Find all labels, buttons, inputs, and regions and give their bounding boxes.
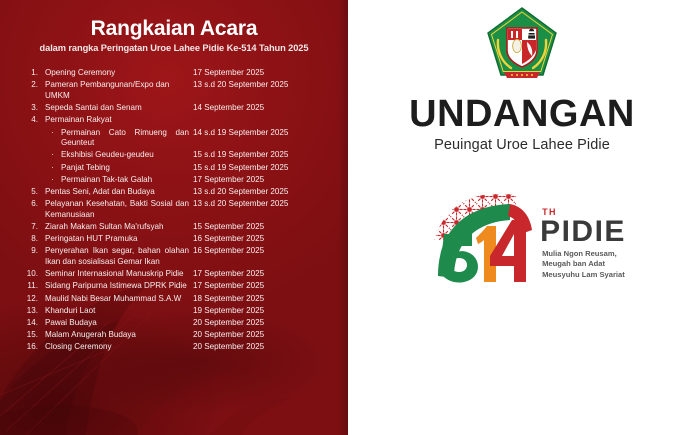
agenda-item-name: Peringatan HUT Pramuka xyxy=(39,234,189,245)
agenda-sub-item-name: Ekshibisi Geudeu-geudeu xyxy=(55,150,189,161)
agenda-item-number: 5. xyxy=(22,187,39,198)
agenda-item: 3.Sepeda Santai dan Senam14 September 20… xyxy=(22,103,334,114)
agenda-item-name: Pameran Pembangunan/Expo dan UMKM xyxy=(39,80,189,101)
invitation-panel: UNDANGAN Peuingat Uroe Lahee Pidie xyxy=(348,0,696,435)
agenda-item-number: 9. xyxy=(22,246,39,257)
invitation-heading-block: UNDANGAN Peuingat Uroe Lahee Pidie xyxy=(409,95,635,154)
agenda-item-number: 7. xyxy=(22,222,39,233)
agenda-item: 2.Pameran Pembangunan/Expo dan UMKM13 s.… xyxy=(22,80,334,101)
agenda-item-date: 13 s.d 20 September 2025 xyxy=(189,199,334,210)
poster-subtitle: dalam rangka Peringatan Uroe Lahee Pidie… xyxy=(0,43,348,54)
agenda-item-date: 16 September 2025 xyxy=(189,246,334,257)
agenda-item: 15.Malam Anugerah Budaya20 September 202… xyxy=(22,330,334,341)
agenda-sub-item-name: Panjat Tebing xyxy=(55,163,189,174)
agenda-sub-item-name: Permainan Tak-tak Galah xyxy=(55,175,189,186)
agenda-item-name: Pelayanan Kesehatan, Bakti Sosial dan Ke… xyxy=(39,199,189,220)
agenda-item-date: 17 September 2025 xyxy=(189,281,334,292)
agenda-item-date: 17 September 2025 xyxy=(189,68,334,79)
anniversary-logo: TH PIDIE Mulia Ngon Reusam, Meugah ban A… xyxy=(418,190,626,291)
agenda-item-name: Maulid Nabi Besar Muhammad S.A.W xyxy=(39,294,189,305)
agenda-item: 9.Penyerahan Ikan segar, bahan olahan Ik… xyxy=(22,246,334,267)
agenda-item-name: Sidang Paripurna Istimewa DPRK Pidie xyxy=(39,281,189,292)
agenda-item-number: 8. xyxy=(22,234,39,245)
agenda-item-date: 20 September 2025 xyxy=(189,342,334,353)
agenda-item-number: 14. xyxy=(22,318,39,329)
poster-title: Rangkaian Acara xyxy=(0,17,348,40)
agenda-item-name: Pentas Seni, Adat dan Budaya xyxy=(39,187,189,198)
agenda-title-block: Rangkaian Acara dalam rangka Peringatan … xyxy=(0,0,348,54)
agenda-item-number: 3. xyxy=(22,103,39,114)
agenda-item-number: 13. xyxy=(22,306,39,317)
agenda-item-number: 4. xyxy=(22,115,39,126)
agenda-panel: Rangkaian Acara dalam rangka Peringatan … xyxy=(0,0,348,435)
agenda-item-number: 12. xyxy=(22,294,39,305)
invitation-subtitle: Peuingat Uroe Lahee Pidie xyxy=(409,138,635,154)
anniversary-514-icon xyxy=(424,190,536,286)
agenda-item-number: 1. xyxy=(22,68,39,79)
agenda-item-name: Ziarah Makam Sultan Ma'rufsyah xyxy=(39,222,189,233)
agenda-item-number: 16. xyxy=(22,342,39,353)
agenda-item: 6.Pelayanan Kesehatan, Bakti Sosial dan … xyxy=(22,199,334,220)
agenda-item: 4.Permainan Rakyat xyxy=(22,115,334,126)
tagline-line-1: Mulia Ngon Reusam, xyxy=(542,249,626,260)
agenda-sub-item: ·Panjat Tebing15 s.d 19 September 2025 xyxy=(22,163,334,174)
invitation-poster: Rangkaian Acara dalam rangka Peringatan … xyxy=(0,0,696,435)
pidie-regency-emblem-icon xyxy=(485,6,559,84)
agenda-item: 12.Maulid Nabi Besar Muhammad S.A.W18 Se… xyxy=(22,294,334,305)
agenda-item-name: Malam Anugerah Budaya xyxy=(39,330,189,341)
emblem-container xyxy=(485,6,559,89)
agenda-list: 1.Opening Ceremony17 September 20252.Pam… xyxy=(0,68,348,353)
agenda-sub-item: ·Ekshibisi Geudeu-geudeu15 s.d 19 Septem… xyxy=(22,150,334,161)
agenda-item: 7.Ziarah Makam Sultan Ma'rufsyah15 Septe… xyxy=(22,222,334,233)
anniversary-number-mark xyxy=(424,190,536,291)
agenda-item-date: 16 September 2025 xyxy=(189,234,334,245)
agenda-item-date: 18 September 2025 xyxy=(189,294,334,305)
agenda-item-name: Pawai Budaya xyxy=(39,318,189,329)
agenda-item-number: 15. xyxy=(22,330,39,341)
agenda-item-name: Permainan Rakyat xyxy=(39,115,189,126)
agenda-item-name: Seminar Internasional Manuskrip Pidie xyxy=(39,269,189,280)
agenda-item-name: Khanduri Laot xyxy=(39,306,189,317)
agenda-item: 11.Sidang Paripurna Istimewa DPRK Pidie1… xyxy=(22,281,334,292)
anniversary-text-block: TH PIDIE Mulia Ngon Reusam, Meugah ban A… xyxy=(540,200,626,281)
agenda-item-number: 2. xyxy=(22,80,39,91)
agenda-item-name: Sepeda Santai dan Senam xyxy=(39,103,189,114)
anniversary-tagline: Mulia Ngon Reusam, Meugah ban Adat Meusy… xyxy=(542,249,626,281)
agenda-sub-bullet-icon: · xyxy=(38,150,55,161)
agenda-sub-item-name: Permainan Cato Rimueng dan Geunteut xyxy=(55,128,189,149)
agenda-sub-item-date: 14 s.d 19 September 2025 xyxy=(189,128,334,139)
agenda-item-number: 11. xyxy=(22,281,39,292)
agenda-item-name: Penyerahan Ikan segar, bahan olahan Ikan… xyxy=(39,246,189,267)
agenda-item-date: 19 September 2025 xyxy=(189,306,334,317)
agenda-item: 5.Pentas Seni, Adat dan Budaya13 s.d 20 … xyxy=(22,187,334,198)
agenda-sub-item: ·Permainan Cato Rimueng dan Geunteut14 s… xyxy=(22,128,334,149)
agenda-sub-item-date: 15 s.d 19 September 2025 xyxy=(189,150,334,161)
anniversary-name: PIDIE xyxy=(540,218,626,247)
agenda-item: 16.Closing Ceremony20 September 2025 xyxy=(22,342,334,353)
agenda-item-number: 6. xyxy=(22,199,39,210)
agenda-item: 1.Opening Ceremony17 September 2025 xyxy=(22,68,334,79)
agenda-item: 13.Khanduri Laot19 September 2025 xyxy=(22,306,334,317)
agenda-sub-item: ·Permainan Tak-tak Galah17 September 202… xyxy=(22,175,334,186)
agenda-item: 10.Seminar Internasional Manuskrip Pidie… xyxy=(22,269,334,280)
agenda-item-name: Closing Ceremony xyxy=(39,342,189,353)
agenda-sub-bullet-icon: · xyxy=(38,163,55,174)
agenda-item: 8.Peringatan HUT Pramuka16 September 202… xyxy=(22,234,334,245)
agenda-item-date: 17 September 2025 xyxy=(189,269,334,280)
agenda-item-date: 15 September 2025 xyxy=(189,222,334,233)
agenda-item: 14.Pawai Budaya20 September 2025 xyxy=(22,318,334,329)
invitation-title: UNDANGAN xyxy=(409,95,635,133)
agenda-item-date: 20 September 2025 xyxy=(189,330,334,341)
agenda-sub-item-date: 15 s.d 19 September 2025 xyxy=(189,163,334,174)
agenda-item-date: 14 September 2025 xyxy=(189,103,334,114)
agenda-item-number: 10. xyxy=(22,269,39,280)
agenda-item-date: 13 s.d 20 September 2025 xyxy=(189,80,334,91)
agenda-sub-bullet-icon: · xyxy=(38,175,55,186)
agenda-sub-bullet-icon: · xyxy=(38,128,55,139)
agenda-sub-item-date: 17 September 2025 xyxy=(189,175,334,186)
agenda-item-date: 13 s.d 20 September 2025 xyxy=(189,187,334,198)
agenda-item-name: Opening Ceremony xyxy=(39,68,189,79)
tagline-line-2: Meugah ban Adat xyxy=(542,259,626,270)
tagline-line-3: Meusyuhu Lam Syariat xyxy=(542,270,626,281)
agenda-item-date: 20 September 2025 xyxy=(189,318,334,329)
